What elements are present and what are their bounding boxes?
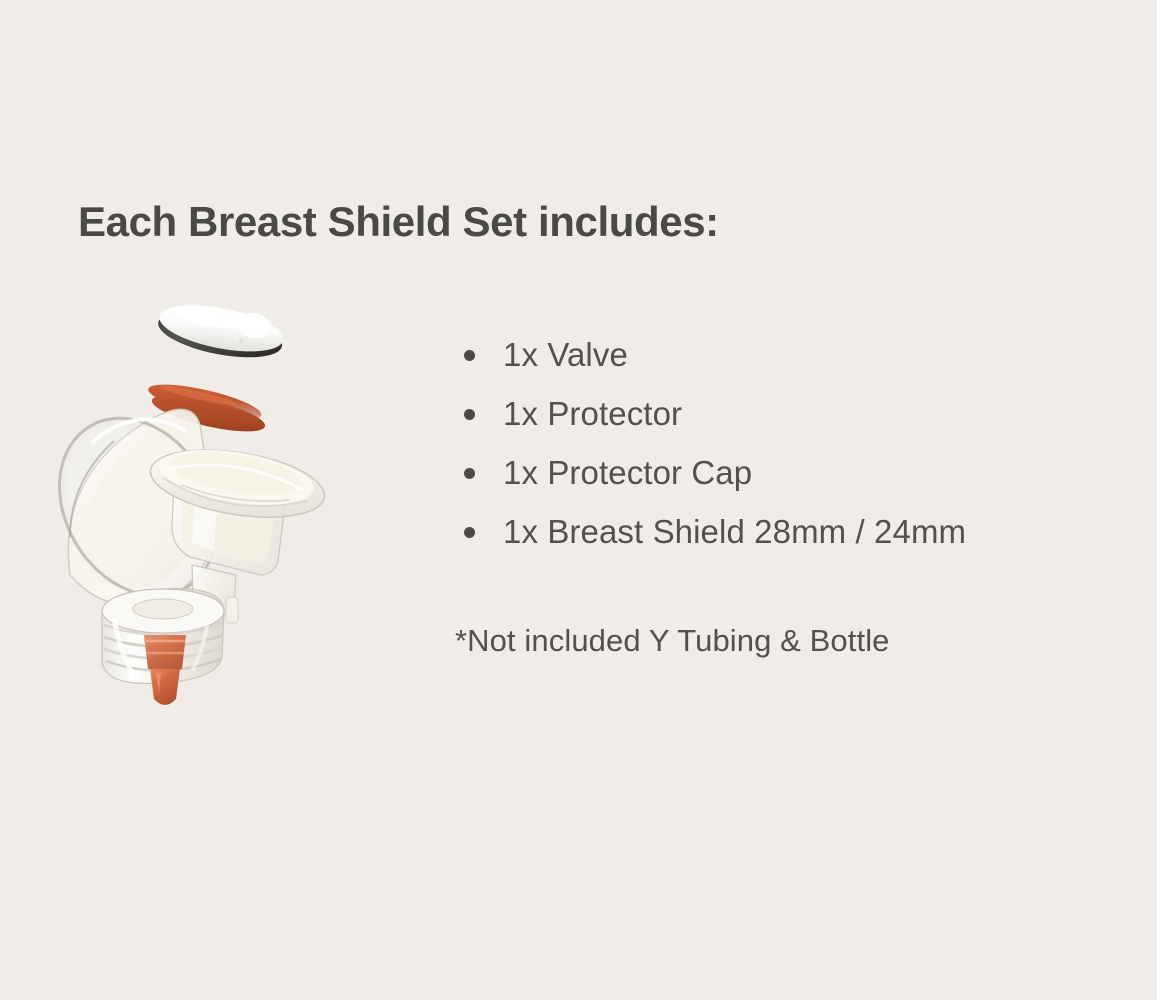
page-root: Each Breast Shield Set includes: — [0, 0, 1157, 1000]
list-item-label: 1x Breast Shield 28mm / 24mm — [503, 513, 966, 550]
product-illustration — [40, 275, 380, 715]
list-item: 1x Protector Cap — [455, 443, 1115, 502]
footnote-text: *Not included Y Tubing & Bottle — [455, 623, 1115, 659]
list-item-label: 1x Protector Cap — [503, 454, 752, 491]
list-item-label: 1x Protector — [503, 395, 682, 432]
bullet-icon — [464, 468, 475, 479]
list-item: 1x Breast Shield 28mm / 24mm — [455, 502, 1115, 561]
protector-cap-part — [154, 295, 287, 366]
page-title: Each Breast Shield Set includes: — [78, 198, 719, 246]
list-item-label: 1x Valve — [503, 336, 628, 373]
includes-content: 1x Valve 1x Protector 1x Protector Cap 1… — [455, 325, 1115, 659]
valve-part — [102, 588, 224, 705]
bullet-icon — [464, 409, 475, 420]
includes-list: 1x Valve 1x Protector 1x Protector Cap 1… — [455, 325, 1115, 561]
list-item: 1x Valve — [455, 325, 1115, 384]
list-item: 1x Protector — [455, 384, 1115, 443]
bullet-icon — [464, 350, 475, 361]
bullet-icon — [464, 527, 475, 538]
